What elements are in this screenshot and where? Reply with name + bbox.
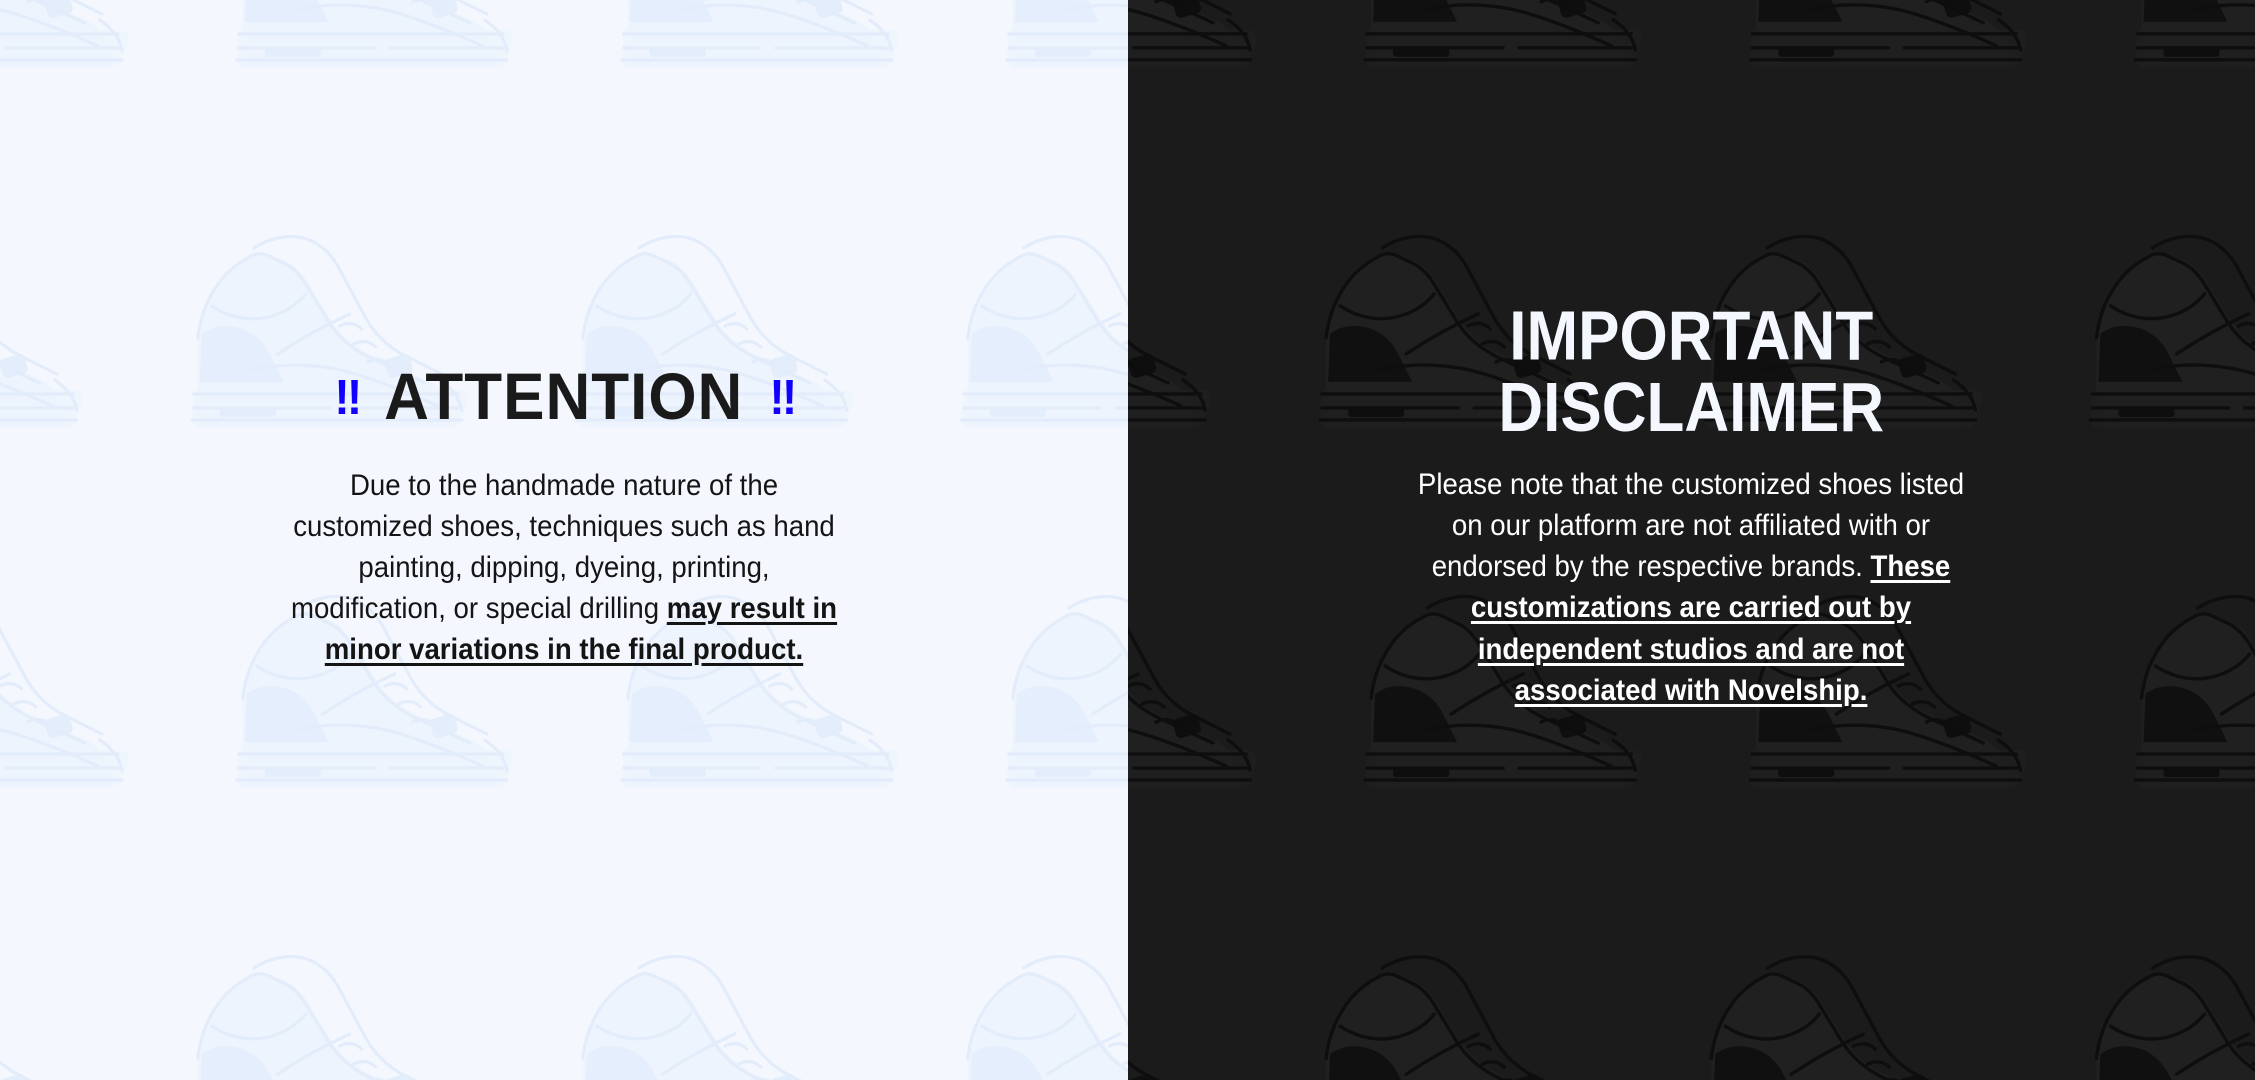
disclaimer-heading-line2: DISCLAIMER [1498, 370, 1884, 447]
double-exclamation-icon-right: ‼ [769, 373, 793, 424]
attention-panel: ‼ATTENTION‼ Due to the handmade nature o… [0, 0, 1128, 1080]
attention-heading-text: ATTENTION [384, 361, 743, 434]
attention-content: ‼ATTENTION‼ Due to the handmade nature o… [0, 366, 1128, 670]
disclaimer-heading: IMPORTANT DISCLAIMER [1311, 302, 2071, 446]
disclaimer-body: Please note that the customized shoes li… [1406, 464, 1976, 711]
disclaimer-heading-line1: IMPORTANT [1509, 298, 1873, 375]
attention-heading: ‼ATTENTION‼ [40, 364, 1088, 432]
attention-body: Due to the handmade nature of the custom… [288, 465, 840, 670]
disclaimer-content: IMPORTANT DISCLAIMER Please note that th… [1128, 309, 2255, 711]
double-exclamation-icon-left: ‼ [334, 373, 358, 424]
disclaimer-banner: ‼ATTENTION‼ Due to the handmade nature o… [0, 0, 2255, 1080]
disclaimer-panel: IMPORTANT DISCLAIMER Please note that th… [1128, 0, 2255, 1080]
